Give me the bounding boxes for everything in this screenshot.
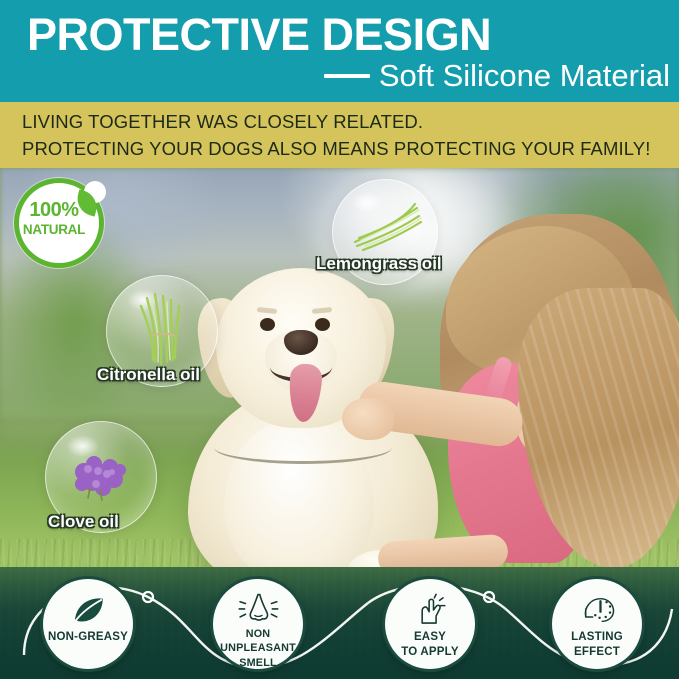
feature-non-greasy[interactable]: NON-GREASY — [43, 579, 133, 669]
subtitle-group: Soft Silicone Material — [324, 59, 670, 93]
clock-arrow-icon — [574, 591, 620, 629]
feature-label: NON-GREASY — [48, 631, 128, 644]
feature-lasting-effect[interactable]: LASTING EFFECT — [552, 579, 642, 669]
lemongrass-oil-label: Lemongrass oil — [316, 254, 442, 274]
natural-badge: 100% NATURAL — [14, 178, 110, 258]
dash-rule-icon — [324, 74, 370, 78]
tagline-band: LIVING TOGETHER WAS CLOSELY RELATED. PRO… — [0, 102, 679, 168]
clove-oil-label: Clove oil — [48, 512, 119, 532]
page-title: PROTECTIVE DESIGN — [27, 9, 491, 61]
feature-easy-to-apply[interactable]: EASY TO APPLY — [385, 579, 475, 669]
snap-fingers-icon — [407, 591, 453, 629]
feature-label-2: EFFECT — [574, 646, 620, 659]
badge-text: 100% NATURAL — [14, 178, 94, 258]
nose-icon — [235, 591, 281, 626]
feature-label: LASTING — [571, 631, 623, 644]
girl-hand — [342, 398, 394, 440]
dog-eye-right — [315, 318, 330, 331]
feature-label-2: TO APPLY — [401, 646, 458, 659]
leaf-icon — [65, 591, 111, 629]
feature-non-unpleasant-smell[interactable]: NON UNPLEASANT SMELL — [213, 579, 303, 669]
dog-eye-left — [260, 318, 275, 331]
feature-strip: NON-GREASY NON UNPLEASANT SMELL — [0, 567, 679, 679]
tagline-line-1: LIVING TOGETHER WAS CLOSELY RELATED. — [22, 111, 423, 133]
badge-percent: 100% — [29, 200, 78, 220]
header-banner: PROTECTIVE DESIGN Soft Silicone Material — [0, 0, 679, 102]
badge-word: NATURAL — [23, 223, 85, 237]
feature-label-2: UNPLEASANT — [220, 642, 296, 655]
feature-label-3: SMELL — [239, 657, 277, 670]
product-infographic: PROTECTIVE DESIGN Soft Silicone Material… — [0, 0, 679, 679]
feature-label: EASY — [414, 631, 446, 644]
citronella-oil-label: Citronella oil — [97, 365, 200, 385]
feature-label: NON — [246, 628, 271, 641]
tagline-line-2: PROTECTING YOUR DOGS ALSO MEANS PROTECTI… — [22, 138, 650, 160]
header-subtitle: Soft Silicone Material — [379, 59, 670, 93]
